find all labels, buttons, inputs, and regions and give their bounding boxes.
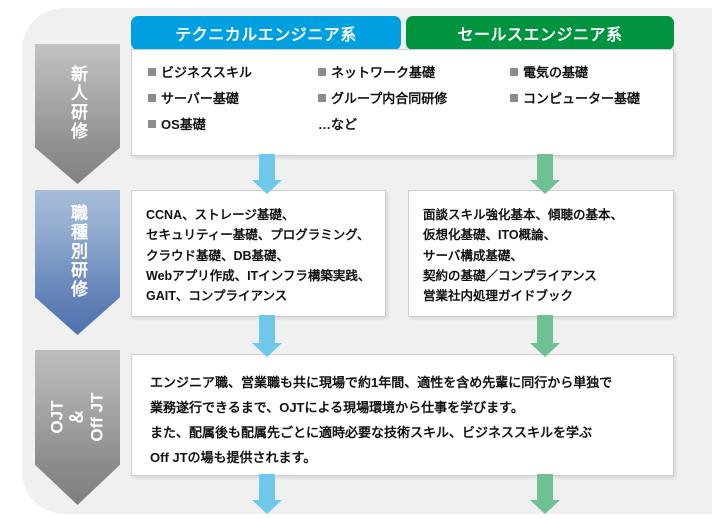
arrow-ojt-continuation-technical — [252, 474, 282, 518]
stage-banner-ojt: OJT ＆ Off JT — [35, 350, 120, 505]
tab-technical-engineer-label: テクニカルエンジニア系 — [175, 21, 357, 45]
newcomer-training-list: ビジネススキル ネットワーク基礎 電気の基礎 サーバー基礎 グループ内合同研修 … — [132, 62, 673, 133]
list-item: 営業社内処理ガイドブック — [423, 286, 673, 306]
technical-role-training-box: CCNA、ストレージ基礎、 セキュリティー基礎、プログラミング、 クラウド基礎、… — [131, 190, 386, 317]
arrow-newcomer-to-sales-role — [530, 154, 560, 194]
newcomer-training-box: ビジネススキル ネットワーク基礎 電気の基礎 サーバー基礎 グループ内合同研修 … — [131, 49, 674, 156]
list-item: ビジネススキル — [148, 62, 318, 81]
list-item: 仮想化基礎、ITO概論、 — [423, 225, 673, 245]
list-item: サーバー基礎 — [148, 88, 318, 107]
arrow-ojt-continuation-sales — [530, 474, 560, 518]
square-bullet-icon — [148, 120, 156, 128]
arrow-technical-role-to-ojt — [252, 315, 282, 357]
square-bullet-icon — [510, 94, 518, 102]
sales-role-training-list: 面談スキル強化基本、傾聴の基本、 仮想化基礎、ITO概論、 サーバ構成基礎、 契… — [423, 205, 673, 306]
ojt-label-line3: Off JT — [88, 393, 107, 442]
tab-technical-engineer[interactable]: テクニカルエンジニア系 — [131, 16, 401, 50]
tab-sales-engineer-label: セールスエンジニア系 — [457, 21, 622, 45]
ojt-description-text: エンジニア職、営業職も共に現場で約1年間、適性を含め先輩に同行から単独で 業務遂… — [150, 371, 673, 471]
list-item: Webアプリ作成、ITインフラ構築実践、 — [146, 266, 385, 286]
list-item: コンピューター基礎 — [510, 88, 673, 107]
ojt-label-line1: OJT — [47, 401, 66, 434]
arrow-sales-role-to-ojt — [530, 315, 560, 357]
stage-banner-newcomer-training: 新人研修 — [35, 44, 120, 184]
list-item-label: サーバー基礎 — [161, 91, 239, 106]
list-item-label: OS基礎 — [161, 117, 206, 132]
list-item: 契約の基礎／コンプライアンス — [423, 266, 673, 286]
ojt-line: エンジニア職、営業職も共に現場で約1年間、適性を含め先輩に同行から単独で — [150, 371, 673, 396]
list-item: サーバ構成基礎、 — [423, 246, 673, 266]
list-item: 電気の基礎 — [510, 62, 673, 81]
stage-banner-newcomer-training-label: 新人研修 — [68, 65, 87, 141]
list-item: OS基礎 — [148, 114, 318, 133]
list-item: セキュリティー基礎、プログラミング、 — [146, 225, 385, 245]
square-bullet-icon — [148, 94, 156, 102]
list-item: CCNA、ストレージ基礎、 — [146, 205, 385, 225]
list-item: 面談スキル強化基本、傾聴の基本、 — [423, 205, 673, 225]
square-bullet-icon — [510, 68, 518, 76]
newcomer-training-etc: …など — [318, 114, 510, 133]
square-bullet-icon — [318, 94, 326, 102]
diagram-stage: 新人研修 職種別研修 OJT ＆ Off JT テクニカルエンジニア系 セールス… — [0, 0, 712, 514]
square-bullet-icon — [318, 68, 326, 76]
ojt-line: Off JTの場も提供されます。 — [150, 446, 673, 471]
list-item-label: ネットワーク基礎 — [331, 65, 435, 80]
arrow-newcomer-to-technical-role — [252, 154, 282, 194]
list-item-label: コンピューター基礎 — [523, 91, 640, 106]
ojt-line: また、配属後も配属先ごとに適時必要な技術スキル、ビジネススキルを学ぶ — [150, 421, 673, 446]
square-bullet-icon — [148, 68, 156, 76]
list-item-label: グループ内合同研修 — [331, 91, 447, 106]
ojt-line: 業務遂行できるまで、OJTによる現場環境から仕事を学びます。 — [150, 396, 673, 421]
ojt-label-line2: ＆ — [67, 409, 86, 426]
list-item: ネットワーク基礎 — [318, 62, 510, 81]
stage-banner-role-training-label: 職種別研修 — [68, 204, 87, 299]
tab-sales-engineer[interactable]: セールスエンジニア系 — [406, 16, 674, 50]
technical-role-training-list: CCNA、ストレージ基礎、 セキュリティー基礎、プログラミング、 クラウド基礎、… — [146, 205, 385, 306]
list-item-label: 電気の基礎 — [523, 65, 588, 80]
list-item: クラウド基礎、DB基礎、 — [146, 246, 385, 266]
stage-banner-role-training: 職種別研修 — [35, 190, 120, 335]
stage-banner-ojt-label: OJT ＆ Off JT — [47, 393, 107, 442]
list-item: グループ内合同研修 — [318, 88, 510, 107]
list-item: GAIT、コンプライアンス — [146, 286, 385, 306]
sales-role-training-box: 面談スキル強化基本、傾聴の基本、 仮想化基礎、ITO概論、 サーバ構成基礎、 契… — [408, 190, 674, 317]
list-item-label: ビジネススキル — [161, 65, 252, 80]
ojt-description-box: エンジニア職、営業職も共に現場で約1年間、適性を含め先輩に同行から単独で 業務遂… — [131, 354, 674, 476]
